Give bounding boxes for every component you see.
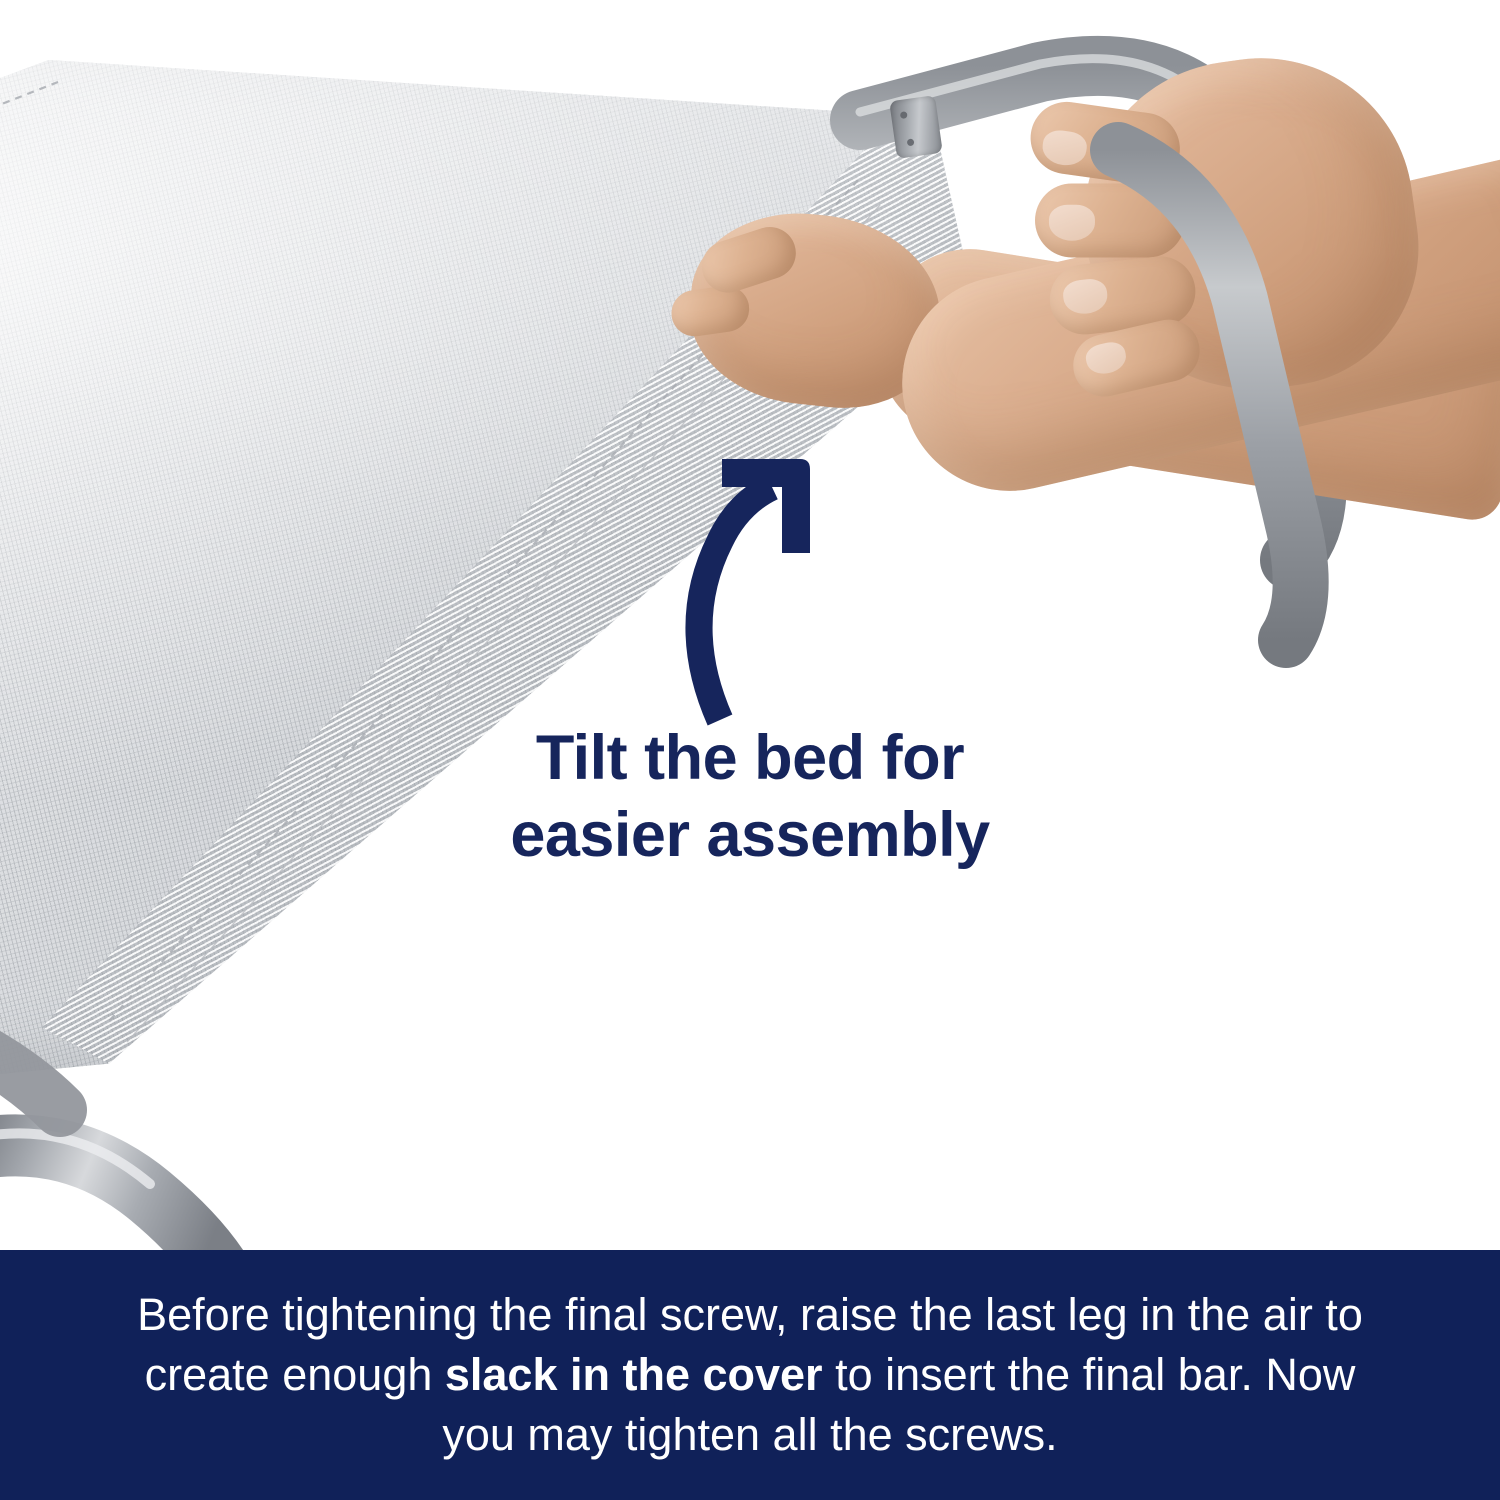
caption-bold-phrase: slack in the cover [445, 1349, 823, 1400]
frame-connector-collar [889, 95, 943, 159]
caption-text: Before tightening the final screw, raise… [115, 1285, 1385, 1465]
fingernail [1049, 205, 1095, 241]
screw-icon [907, 138, 915, 146]
caption-bar: Before tightening the final screw, raise… [0, 1250, 1500, 1500]
headline: Tilt the bed for easier assembly [0, 720, 1500, 874]
product-instruction-image: Tilt the bed for easier assembly Before … [0, 0, 1500, 1500]
headline-line-2: easier assembly [0, 797, 1500, 874]
headline-line-1: Tilt the bed for [0, 720, 1500, 797]
screw-icon [900, 111, 908, 119]
curved-up-right-arrow-icon [660, 445, 850, 735]
product-photo: Tilt the bed for easier assembly [0, 0, 1500, 1250]
